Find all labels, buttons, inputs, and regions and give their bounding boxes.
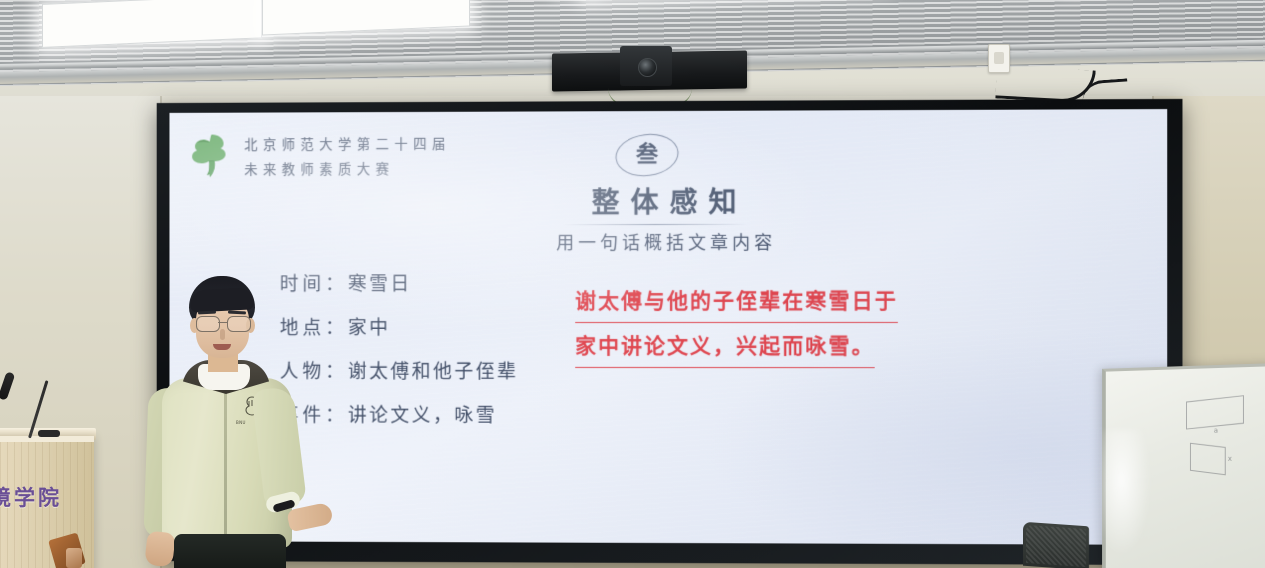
fact-value: 谢太傅和他子侄辈 bbox=[348, 361, 519, 383]
glasses-bridge bbox=[218, 322, 227, 323]
whiteboard-mark: x bbox=[1228, 455, 1232, 463]
answer-line-2: 家中讲论文义，兴起而咏雪。 bbox=[575, 328, 875, 368]
camera-lens-icon bbox=[638, 58, 657, 77]
presenter: BNU bbox=[140, 276, 360, 568]
bnu-tree-logo-icon bbox=[189, 131, 234, 179]
slide-subtitle: 用一句话概括文章内容 bbox=[169, 228, 1167, 256]
whiteboard-glare bbox=[1102, 429, 1151, 557]
whiteboard-sketch bbox=[1186, 395, 1244, 429]
podium-object-secondary bbox=[66, 548, 82, 568]
brand-line-2: 未来教师素质大赛 bbox=[244, 158, 451, 178]
glasses-lens-right bbox=[227, 316, 251, 332]
microphone-base bbox=[38, 430, 60, 437]
chair-backrest bbox=[1023, 522, 1089, 568]
classroom-scene: 北京师范大学第二十四届 未来教师素质大赛 叁 整体感知 用一句话概括文章内容 时… bbox=[0, 0, 1265, 568]
chair-mesh bbox=[1026, 525, 1086, 567]
section-number-badge: 叁 bbox=[616, 134, 678, 176]
fact-value: 讲论文义，咏雪 bbox=[348, 405, 497, 427]
whiteboard-sketch bbox=[1190, 443, 1226, 476]
slide-brand: 北京师范大学第二十四届 未来教师素质大赛 bbox=[189, 130, 451, 179]
whiteboard: a x bbox=[1102, 363, 1265, 568]
section-number: 叁 bbox=[636, 144, 658, 166]
slide-title: 整体感知 bbox=[169, 180, 1167, 222]
whiteboard-mark: a bbox=[1214, 427, 1218, 435]
jacket-zipper bbox=[224, 386, 227, 544]
answer-line-1: 谢太傅与他的子侄辈在寒雪日于 bbox=[575, 283, 898, 323]
title-underline bbox=[563, 224, 747, 225]
jacket-emblem-text: BNU bbox=[236, 420, 246, 425]
presenter-nose bbox=[220, 329, 225, 340]
brand-text: 北京师范大学第二十四届 未来教师素质大赛 bbox=[244, 130, 451, 178]
presenter-left-hand bbox=[144, 531, 175, 568]
brand-line-1: 北京师范大学第二十四届 bbox=[244, 133, 451, 154]
answer-text: 谢太傅与他的子侄辈在寒雪日于 家中讲论文义，兴起而咏雪。 bbox=[575, 283, 1057, 374]
presenter-hair-fringe bbox=[189, 287, 254, 312]
podium-label: 环境学院 bbox=[0, 482, 86, 512]
presenter-trousers bbox=[174, 534, 286, 568]
glasses-lens-left bbox=[196, 316, 220, 332]
glasses-icon bbox=[196, 316, 250, 330]
